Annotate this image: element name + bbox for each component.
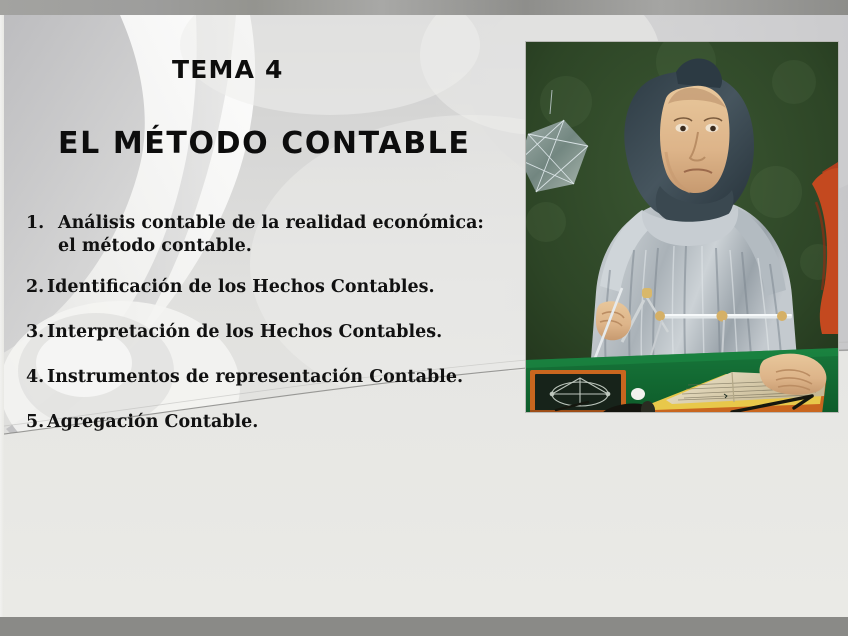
list-item: 1. Análisis contable de la realidad econ…: [26, 212, 526, 258]
list-item-text: Agregación Contable.: [47, 411, 526, 434]
slide: TEMA 4 EL MÉTODO CONTABLE 1. Análisis co…: [0, 0, 848, 636]
list-item-number: 2.: [26, 276, 47, 299]
list-item: 5. Agregación Contable.: [26, 411, 526, 434]
list-item-number: 1.: [26, 212, 58, 235]
list-item: 4. Instrumentos de representación Contab…: [26, 366, 526, 389]
slide-title-line-2: EL MÉTODO CONTABLE: [58, 126, 470, 161]
list-item-text: Identificación de los Hechos Contables.: [47, 276, 526, 299]
top-border-band: [0, 0, 848, 15]
list-item-text: Instrumentos de representación Contable.: [47, 366, 526, 389]
left-edge-highlight: [0, 15, 4, 617]
list-item-number: 5.: [26, 411, 47, 434]
outline-list: 1. Análisis contable de la realidad econ…: [26, 212, 526, 434]
list-item: 2. Identificación de los Hechos Contable…: [26, 276, 526, 299]
list-item-number: 4.: [26, 366, 47, 389]
list-item-number: 3.: [26, 321, 47, 344]
bottom-border-band: [0, 617, 848, 636]
list-item-text: Análisis contable de la realidad económi…: [58, 212, 498, 258]
pacioli-portrait-image: [526, 42, 838, 412]
list-item: 3. Interpretación de los Hechos Contable…: [26, 321, 526, 344]
slide-title-line-1: TEMA 4: [172, 55, 284, 84]
list-item-text: Interpretación de los Hechos Contables.: [47, 321, 526, 344]
